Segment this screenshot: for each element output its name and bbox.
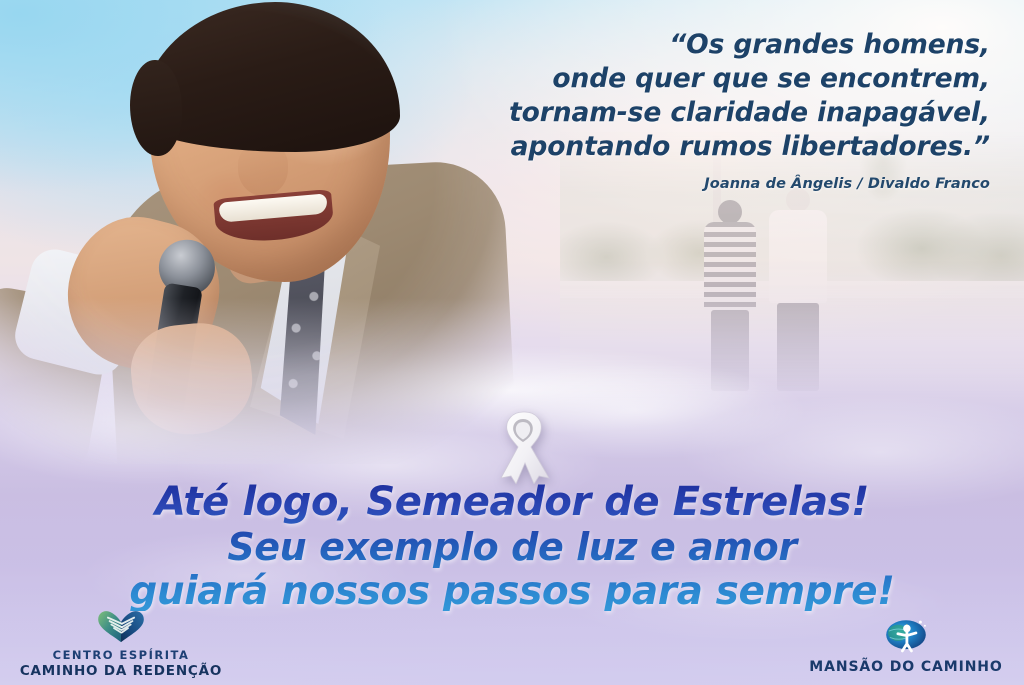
- memorial-poster: “Os grandes homens, onde quer que se enc…: [0, 0, 1024, 685]
- heart-hands-icon: [6, 608, 236, 647]
- mourning-ribbon-icon: [487, 406, 559, 484]
- logo-mansao-do-caminho-label: MANSÃO DO CAMINHO: [796, 659, 1016, 675]
- logo-centro-espirita-line-1: CENTRO ESPÍRITA: [6, 648, 236, 662]
- portrait-photo: [0, 0, 520, 464]
- quote-line-3: tornam-se claridade inapagável,: [470, 96, 990, 130]
- background-figure-striped: [704, 200, 756, 391]
- logo-centro-espirita-line-2: CAMINHO DA REDENÇÃO: [6, 663, 236, 679]
- quote-line-1: “Os grandes homens,: [470, 28, 990, 62]
- background-figure-white: [769, 188, 827, 391]
- portrait-teeth: [218, 193, 328, 222]
- quote-block: “Os grandes homens, onde quer que se enc…: [470, 28, 990, 192]
- headline-line-3: guiará nossos passos para sempre!: [0, 572, 1024, 611]
- headline-line-2: Seu exemplo de luz e amor: [0, 528, 1024, 572]
- headline-block: Até logo, Semeador de Estrelas! Seu exem…: [0, 482, 1024, 611]
- quote-line-2: onde quer que se encontrem,: [470, 62, 990, 96]
- portrait-bottom-fade: [0, 298, 520, 468]
- globe-figure-icon: [796, 611, 1016, 657]
- quote-author: Joanna de Ângelis / Divaldo Franco: [470, 176, 990, 192]
- logo-mansao-do-caminho: MANSÃO DO CAMINHO: [796, 611, 1016, 675]
- portrait-hair: [140, 2, 400, 152]
- headline-line-1: Até logo, Semeador de Estrelas!: [0, 482, 1024, 528]
- quote-line-4: apontando rumos libertadores.”: [470, 130, 990, 164]
- logo-centro-espirita: CENTRO ESPÍRITA CAMINHO DA REDENÇÃO: [6, 608, 236, 679]
